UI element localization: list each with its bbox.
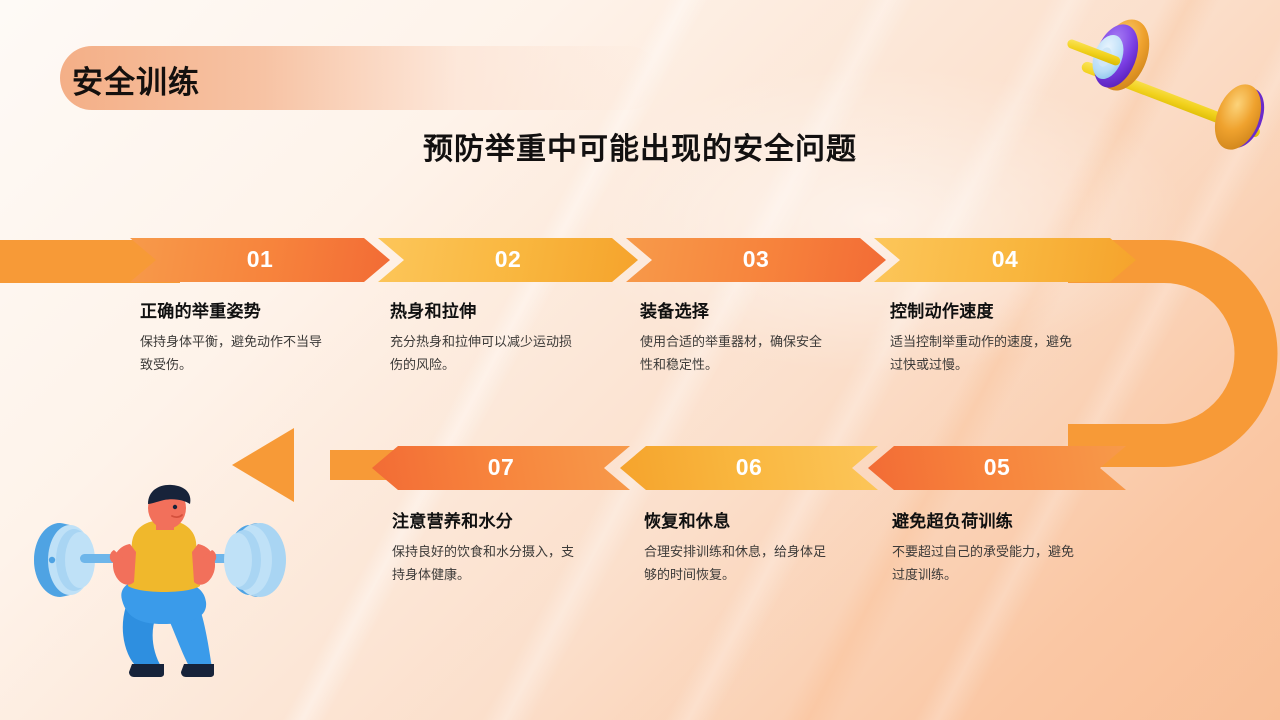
slide-root: 安全训练 预防举重中可能出现的安全问题 [0,0,1280,720]
weightlifter-illustration [22,482,312,678]
header-badge-label: 安全训练 [72,57,200,102]
step-heading-02: 热身和拉伸 [390,297,477,322]
step-number-07: 07 [488,454,515,481]
step-number-03: 03 [743,246,770,273]
step-chevron-03[interactable]: 03 [626,238,886,282]
step-heading-04: 控制动作速度 [890,297,994,322]
barbell-3d-icon [1058,8,1280,160]
step-heading-07: 注意营养和水分 [392,507,513,532]
step-body-06: 合理安排训练和休息，给身体足够的时间恢复。 [644,541,834,587]
step-body-07: 保持良好的饮食和水分摄入，支持身体健康。 [392,541,582,587]
step-chevron-06[interactable]: 06 [620,446,878,490]
step-body-03: 使用合适的举重器材，确保安全性和稳定性。 [640,331,830,377]
step-chevron-04[interactable]: 04 [874,238,1136,282]
step-heading-06: 恢复和休息 [644,507,731,532]
step-chevron-05[interactable]: 05 [868,446,1126,490]
step-body-05: 不要超过自己的承受能力，避免过度训练。 [892,541,1082,587]
step-heading-01: 正确的举重姿势 [140,297,261,322]
step-number-02: 02 [495,246,522,273]
step-chevron-02[interactable]: 02 [378,238,638,282]
step-chevron-01[interactable]: 01 [130,238,390,282]
step-number-06: 06 [736,454,763,481]
step-number-01: 01 [247,246,274,273]
step-number-04: 04 [992,246,1019,273]
step-body-02: 充分热身和拉伸可以减少运动损伤的风险。 [390,331,580,377]
step-number-05: 05 [984,454,1011,481]
step-heading-05: 避免超负荷训练 [892,507,1013,532]
step-heading-03: 装备选择 [640,297,709,322]
step-body-01: 保持身体平衡，避免动作不当导致受伤。 [140,331,330,377]
step-body-04: 适当控制举重动作的速度，避免过快或过慢。 [890,331,1080,377]
step-chevron-07[interactable]: 07 [372,446,630,490]
